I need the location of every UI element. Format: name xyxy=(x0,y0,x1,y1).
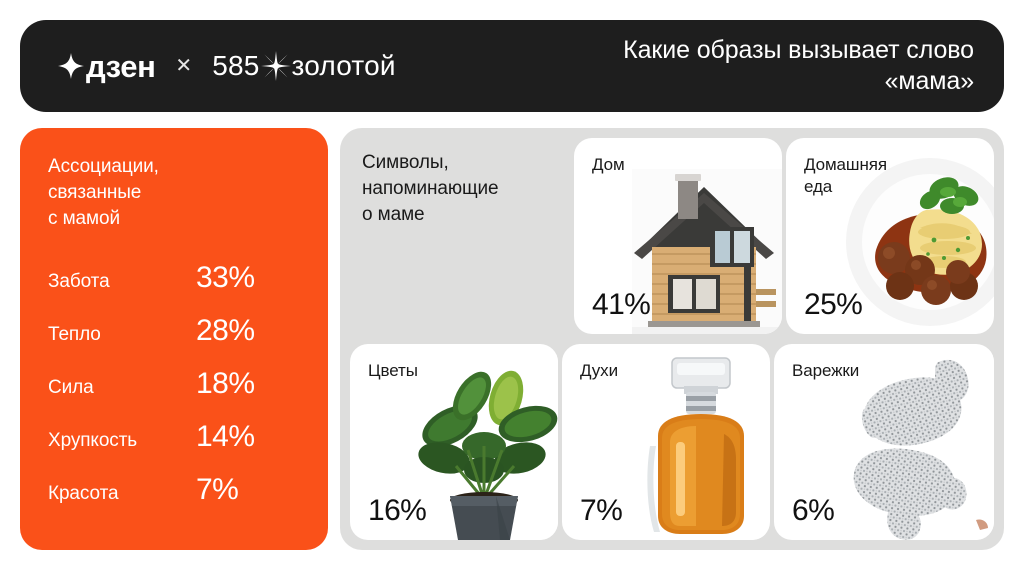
associations-panel: Ассоциации, связанные с мамой Забота 33%… xyxy=(20,128,328,550)
association-value: 7% xyxy=(196,475,238,505)
infographic-page: дзен ✕ 585 золотой Какие образы вызывает… xyxy=(0,0,1024,576)
symbol-label: Цветы xyxy=(368,360,418,382)
page-title: Какие образы вызывает слово «мама» xyxy=(554,35,974,98)
four-point-star-icon xyxy=(58,53,84,79)
symbol-card-mittens[interactable]: Варежки 6% xyxy=(774,344,994,540)
potted-plant-photo xyxy=(410,354,558,540)
eight-point-star-icon xyxy=(260,51,292,81)
association-value: 28% xyxy=(196,316,255,346)
brand-lockups: дзен ✕ 585 золотой xyxy=(58,51,396,82)
symbols-card-grid: Дом 41% xyxy=(350,138,994,540)
symbol-card-home-food[interactable]: Домашняя еда 25% xyxy=(786,138,994,334)
symbol-value: 16% xyxy=(368,496,426,526)
association-value: 18% xyxy=(196,369,255,399)
symbol-card-flowers[interactable]: Цветы 16% xyxy=(350,344,558,540)
symbol-label: Варежки xyxy=(792,360,859,382)
symbol-card-perfume[interactable]: Духи 7% xyxy=(562,344,770,540)
association-label: Сила xyxy=(48,378,196,397)
gold-585-wordmark: золотой xyxy=(292,52,396,80)
cross-separator-icon: ✕ xyxy=(169,56,198,76)
list-item: Забота 33% xyxy=(48,263,300,316)
association-value: 33% xyxy=(196,263,255,293)
house-photo xyxy=(632,169,782,334)
zen-logo[interactable]: дзен xyxy=(58,51,155,82)
list-item: Хрупкость 14% xyxy=(48,422,300,475)
association-label: Забота xyxy=(48,272,196,291)
zen-wordmark: дзен xyxy=(86,51,155,82)
association-value: 14% xyxy=(196,422,255,452)
association-label: Красота xyxy=(48,484,196,503)
symbol-card-house[interactable]: Дом 41% xyxy=(574,138,782,334)
perfume-bottle-photo xyxy=(636,350,766,540)
associations-list: Забота 33% Тепло 28% Сила 18% Хрупкость … xyxy=(48,263,300,528)
list-item: Тепло 28% xyxy=(48,316,300,369)
symbol-value: 6% xyxy=(792,496,834,526)
symbol-value: 41% xyxy=(592,290,650,320)
list-item: Красота 7% xyxy=(48,475,300,528)
list-item: Сила 18% xyxy=(48,369,300,422)
association-label: Тепло xyxy=(48,325,196,344)
symbol-value: 7% xyxy=(580,496,622,526)
gold-585-number: 585 xyxy=(212,52,259,80)
gold-585-logo[interactable]: 585 золотой xyxy=(212,51,396,81)
symbol-value: 25% xyxy=(804,290,862,320)
symbols-panel: Символы, напоминающие о маме Дом 41% xyxy=(340,128,1004,550)
symbol-label: Дом xyxy=(592,154,625,176)
symbol-label: Домашняя еда xyxy=(804,154,887,198)
header-bar: дзен ✕ 585 золотой Какие образы вызывает… xyxy=(20,20,1004,112)
association-label: Хрупкость xyxy=(48,431,196,450)
associations-heading: Ассоциации, связанные с мамой xyxy=(48,154,300,233)
symbol-label: Духи xyxy=(580,360,618,382)
